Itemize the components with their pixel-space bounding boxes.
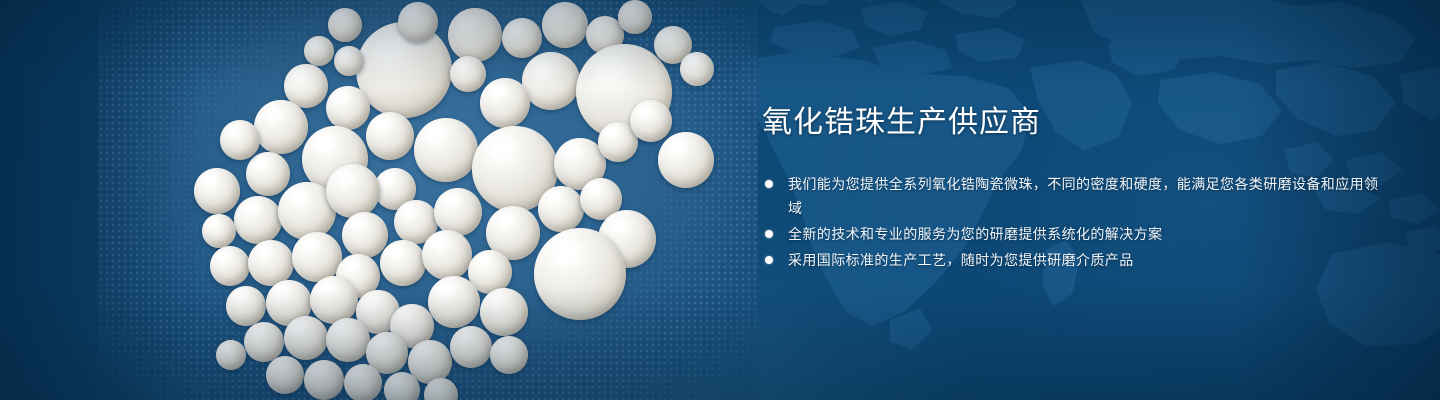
list-item-text: 我们能为您提供全系列氧化锆陶瓷微珠，不同的密度和硬度，能满足您各类研磨设备和应用…	[788, 176, 1378, 216]
bullet-dot-icon	[765, 180, 773, 188]
list-item-text: 全新的技术和专业的服务为您的研磨提供系统化的解决方案	[788, 226, 1162, 242]
page-title: 氧化锆珠生产供应商	[762, 104, 1382, 142]
list-item: 全新的技术和专业的服务为您的研磨提供系统化的解决方案	[762, 222, 1382, 246]
hero-banner: 氧化锆珠生产供应商 我们能为您提供全系列氧化锆陶瓷微珠，不同的密度和硬度，能满足…	[0, 0, 1440, 400]
list-item: 我们能为您提供全系列氧化锆陶瓷微珠，不同的密度和硬度，能满足您各类研磨设备和应用…	[762, 172, 1382, 220]
list-item-text: 采用国际标准的生产工艺，随时为您提供研磨介质产品	[788, 252, 1134, 268]
bullet-dot-icon	[765, 256, 773, 264]
banner-copy: 氧化锆珠生产供应商 我们能为您提供全系列氧化锆陶瓷微珠，不同的密度和硬度，能满足…	[762, 104, 1382, 274]
list-item: 采用国际标准的生产工艺，随时为您提供研磨介质产品	[762, 248, 1382, 272]
bullet-dot-icon	[765, 230, 773, 238]
feature-list: 我们能为您提供全系列氧化锆陶瓷微珠，不同的密度和硬度，能满足您各类研磨设备和应用…	[762, 172, 1382, 272]
